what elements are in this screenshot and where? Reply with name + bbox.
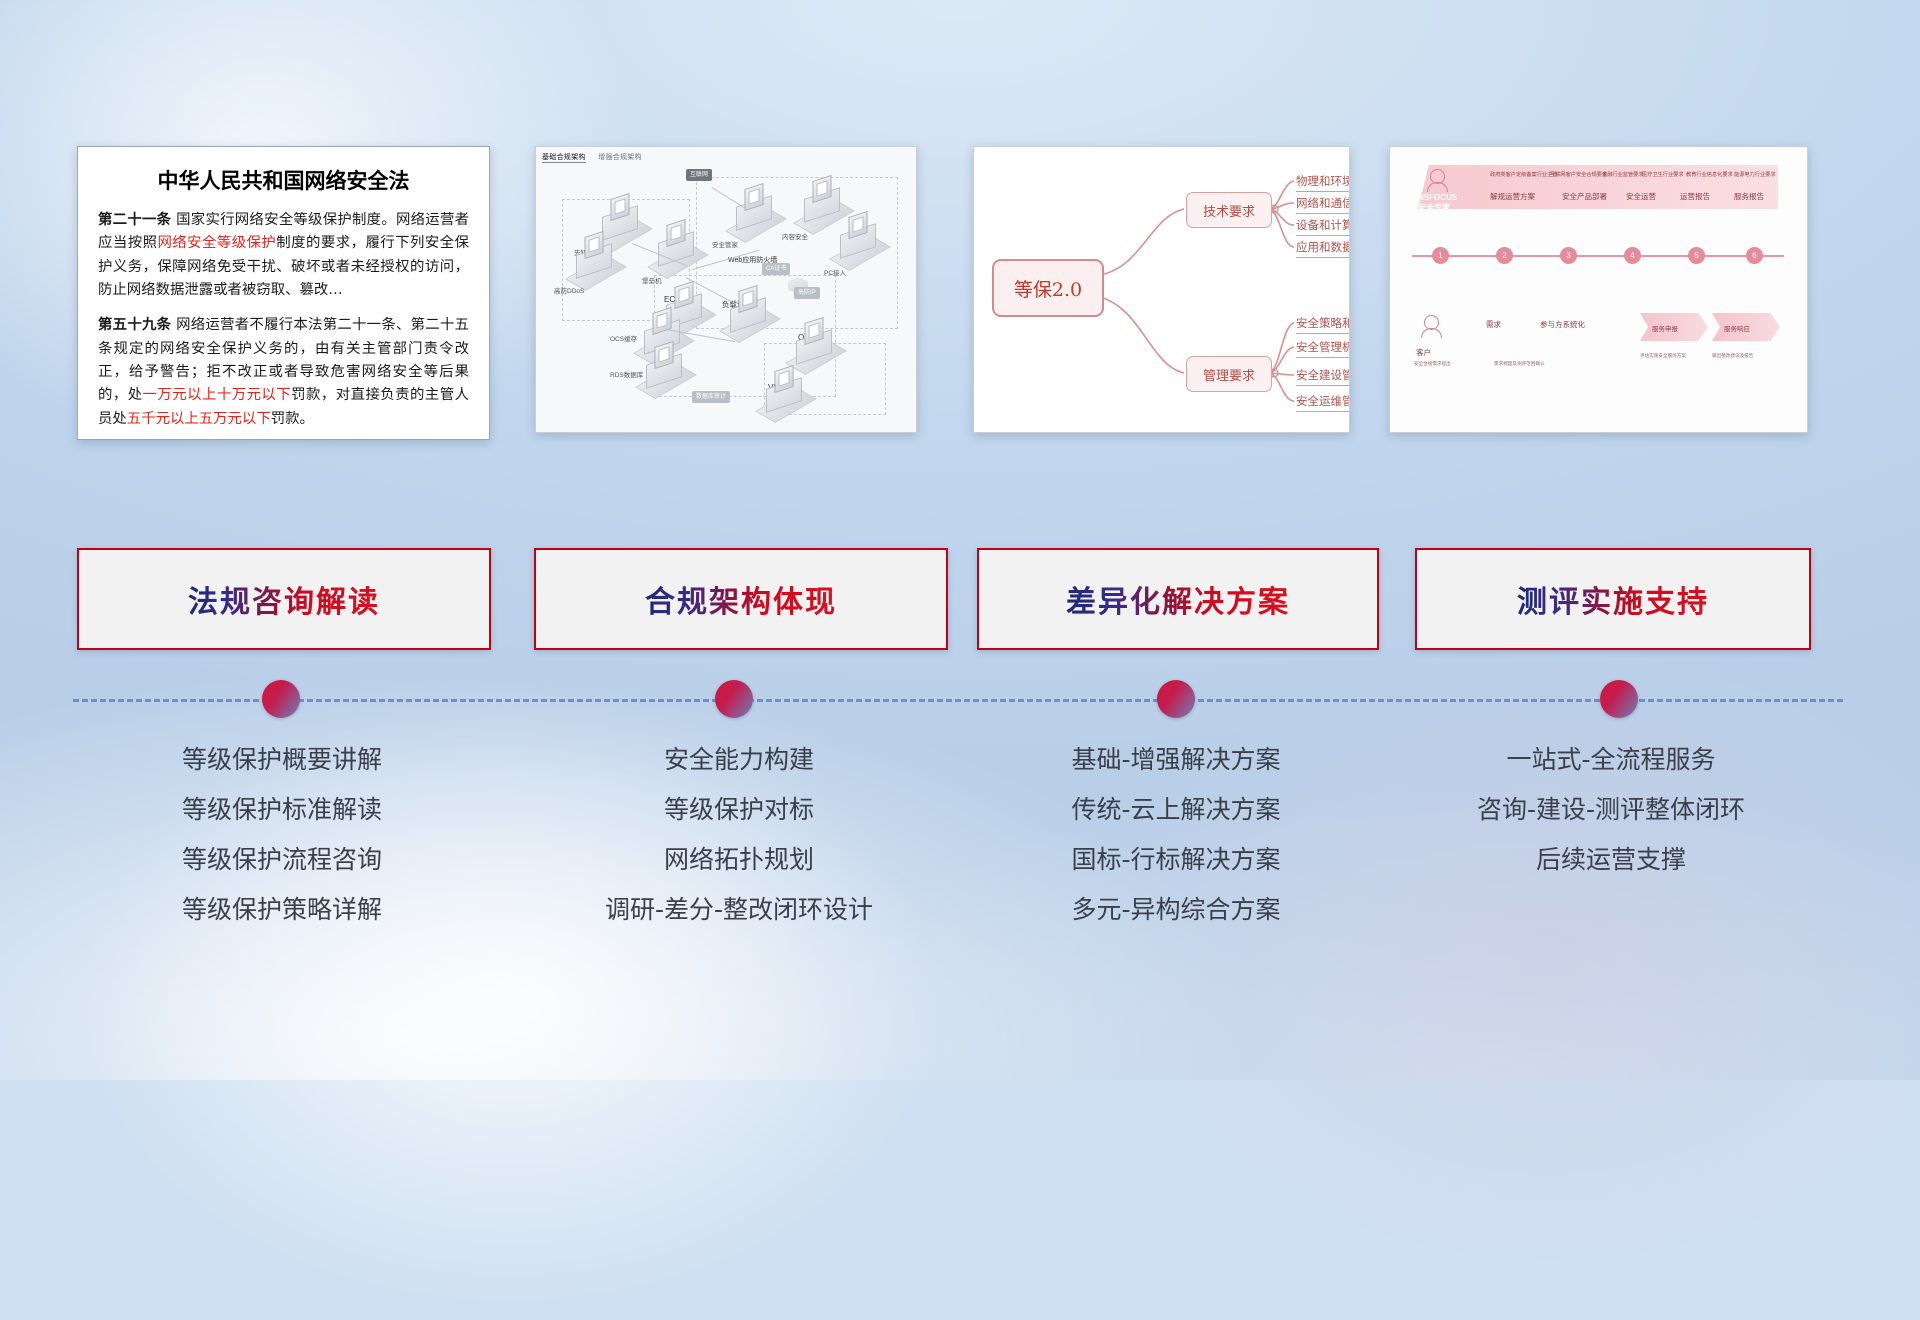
list-item: 咨询-建设-测评整体闭环	[1415, 785, 1807, 835]
roadmap-note-2: 评估实施安全服务方案	[1640, 353, 1686, 359]
list-item: 调研-差分-整改闭环设计	[534, 885, 944, 935]
mindmap-branch-technical: 技术要求	[1186, 192, 1272, 228]
list-item: 后续运营支撑	[1415, 835, 1807, 885]
heading-box-3[interactable]: 差异化解决方案	[977, 548, 1379, 650]
roadmap-bottom-label-1: 参与方系统化	[1540, 319, 1585, 330]
roadmap-step-4: 4	[1624, 247, 1641, 264]
roadmap-stage-0: 解规运营方案	[1490, 191, 1535, 202]
mindmap-branch-management: 管理要求	[1186, 356, 1272, 392]
arch-tag-internet: 互联网	[686, 169, 712, 181]
law-text-card: 中华人民共和国网络安全法 第二十一条 国家实行网络安全等级保护制度。网络运营者应…	[77, 146, 490, 440]
mindmap-leaf-tech-4: 应用和数据安全	[1296, 239, 1349, 258]
heading-box-1[interactable]: 法规咨询解读	[77, 548, 491, 650]
arch-label-rds: RDS数据库	[610, 369, 643, 379]
arch-tab-enhanced: 增强合规架构	[598, 154, 642, 161]
article-21-highlight: 网络安全等级保护	[157, 235, 276, 251]
roadmap-step-2: 2	[1496, 247, 1513, 264]
heading-box-2[interactable]: 合规架构体现	[534, 548, 948, 650]
heading-label-1: 法规咨询解读	[188, 577, 380, 621]
article-59-label: 第五十九条	[98, 317, 171, 333]
roadmap-band-item-2: 金融行业监管要求	[1602, 171, 1644, 178]
roadmap-chevron-text-1: 服务响应	[1724, 323, 1750, 333]
detail-column-3: 基础-增强解决方案 传统-云上解决方案 国标-行标解决方案 多元-异构综合方案	[977, 735, 1375, 935]
roadmap-stage-4: 服务报告	[1734, 191, 1764, 202]
list-item: 多元-异构综合方案	[977, 885, 1375, 935]
roadmap-band-item-1: 互联网客户安全合规要求	[1550, 171, 1607, 178]
roadmap-stage-2: 安全运营	[1626, 191, 1656, 202]
list-item: 网络拓扑规划	[534, 835, 944, 885]
list-item: 传统-云上解决方案	[977, 785, 1375, 835]
roadmap-chevron-text-0: 服务申报	[1652, 323, 1678, 333]
roadmap-step-5: 5	[1688, 247, 1705, 264]
roadmap-step-3: 3	[1560, 247, 1577, 264]
heading-box-4[interactable]: 测评实施支持	[1415, 548, 1811, 650]
timeline-dot-3[interactable]	[1157, 680, 1195, 718]
roadmap-band-item-5: 能源电力行业要求	[1734, 171, 1776, 178]
timeline-dot-2[interactable]	[715, 680, 753, 718]
roadmap-brand: NSFOCUS 安全专家	[1418, 193, 1457, 213]
roadmap-step-6: 6	[1746, 247, 1763, 264]
roadmap-note-0: 安全合规需求提出	[1414, 361, 1451, 367]
mindmap-card: 等保2.0 技术要求 管理要求 物理和环境安全 网络和通信安全 设备和计算安全 …	[973, 146, 1350, 433]
roadmap-step-1: 1	[1432, 247, 1449, 264]
roadmap-note-1: 需求梳理及测评范围确认	[1494, 361, 1545, 367]
arch-label-ddos: 高防DDoS	[554, 285, 584, 295]
arch-label-mobile: 内容安全	[782, 231, 808, 241]
mindmap-leaf-tech-3: 设备和计算安全	[1296, 217, 1349, 236]
mindmap-leaf-mgmt-3: 安全建设管理	[1296, 367, 1349, 386]
article-59-highlight-1: 一万元以上十万元以下	[143, 387, 292, 403]
roadmap-brand-line1: NSFOCUS	[1418, 193, 1457, 203]
law-article-59: 第五十九条 网络运营者不履行本法第二十一条、第二十五条规定的网络安全保护义务的，…	[98, 314, 469, 431]
roadmap-stage-3: 运营报告	[1680, 191, 1710, 202]
customer-icon	[1424, 315, 1439, 330]
arch-tab-basic: 基础合规架构	[542, 154, 586, 163]
illustration-card-row: 中华人民共和国网络安全法 第二十一条 国家实行网络安全等级保护制度。网络运营者应…	[0, 146, 1920, 442]
timeline-dashed-line	[73, 699, 1843, 702]
roadmap-band-item-4: 教育行业信息化要求	[1686, 171, 1733, 178]
article-21-label: 第二十一条	[98, 212, 171, 228]
roadmap-axis	[1412, 255, 1784, 257]
roadmap-band-item-0: 政府类客户定级备案行业主管	[1490, 171, 1557, 178]
detail-column-2: 安全能力构建 等级保护对标 网络拓扑规划 调研-差分-整改闭环设计	[534, 735, 944, 935]
list-item: 等级保护对标	[534, 785, 944, 835]
arch-label-pc: PC接入	[824, 267, 846, 277]
roadmap-customer-label: 客户	[1416, 347, 1431, 358]
list-item: 一站式-全流程服务	[1415, 735, 1807, 785]
list-item: 国标-行标解决方案	[977, 835, 1375, 885]
roadmap-brand-line2: 安全专家	[1418, 203, 1457, 213]
person-icon	[1430, 169, 1445, 184]
law-article-21: 第二十一条 国家实行网络安全等级保护制度。网络运营者应当按照网络安全等级保护制度…	[98, 209, 469, 302]
list-item: 等级保护策略详解	[77, 885, 487, 935]
arch-label-bastion: 堡垒机	[642, 275, 662, 285]
arch-label-sg: 安全管家	[712, 239, 738, 249]
article-59-text-c: 罚款。	[271, 411, 314, 427]
heading-label-3: 差异化解决方案	[1066, 577, 1290, 621]
arch-tag-hfip: 高防IP	[794, 287, 820, 299]
arch-tabs: 基础合规架构 增强合规架构	[542, 152, 652, 162]
arch-tag-audit: 数据库审计	[692, 391, 730, 403]
list-item: 安全能力构建	[534, 735, 944, 785]
mindmap-root-node: 等保2.0	[992, 259, 1104, 317]
heading-label-2: 合规架构体现	[645, 577, 837, 621]
detail-column-row: 等级保护概要讲解 等级保护标准解读 等级保护流程咨询 等级保护策略详解 安全能力…	[0, 735, 1920, 985]
heading-row: 法规咨询解读 合规架构体现 差异化解决方案 测评实施支持	[0, 548, 1920, 658]
timeline-dot-4[interactable]	[1600, 680, 1638, 718]
timeline	[0, 680, 1920, 720]
detail-column-4: 一站式-全流程服务 咨询-建设-测评整体闭环 后续运营支撑	[1415, 735, 1807, 885]
mindmap-leaf-tech-1: 物理和环境安全	[1296, 173, 1349, 192]
list-item: 等级保护概要讲解	[77, 735, 487, 785]
roadmap-note-3: 输出整改建议及报告	[1712, 353, 1753, 359]
mindmap-leaf-mgmt-4: 安全运维管理	[1296, 393, 1349, 412]
law-card-title: 中华人民共和国网络安全法	[98, 165, 469, 195]
roadmap-bottom-label-0: 需求	[1486, 319, 1501, 330]
mindmap-leaf-mgmt-1: 安全策略和管理制度	[1296, 315, 1349, 334]
list-item: 等级保护标准解读	[77, 785, 487, 835]
timeline-dot-1[interactable]	[262, 680, 300, 718]
heading-label-4: 测评实施支持	[1517, 577, 1709, 621]
roadmap-stage-1: 安全产品部署	[1562, 191, 1607, 202]
list-item: 基础-增强解决方案	[977, 735, 1375, 785]
detail-column-1: 等级保护概要讲解 等级保护标准解读 等级保护流程咨询 等级保护策略详解	[77, 735, 487, 935]
roadmap-card: NSFOCUS 安全专家 政府类客户定级备案行业主管 互联网客户安全合规要求 金…	[1389, 146, 1808, 433]
mindmap-leaf-mgmt-2: 安全管理机构和人员	[1296, 339, 1349, 358]
arch-label-ocs: OCS缓存	[610, 333, 637, 343]
article-59-highlight-2: 五千元以上五万元以下	[127, 411, 271, 427]
list-item: 等级保护流程咨询	[77, 835, 487, 885]
architecture-diagram-card: 基础合规架构 增强合规架构 互联网 先知 高防DDoS 安全管家 内容安全 PC…	[535, 146, 917, 433]
mindmap-leaf-tech-2: 网络和通信安全	[1296, 195, 1349, 214]
roadmap-band-item-3: 医疗卫生行业要求	[1642, 171, 1684, 178]
